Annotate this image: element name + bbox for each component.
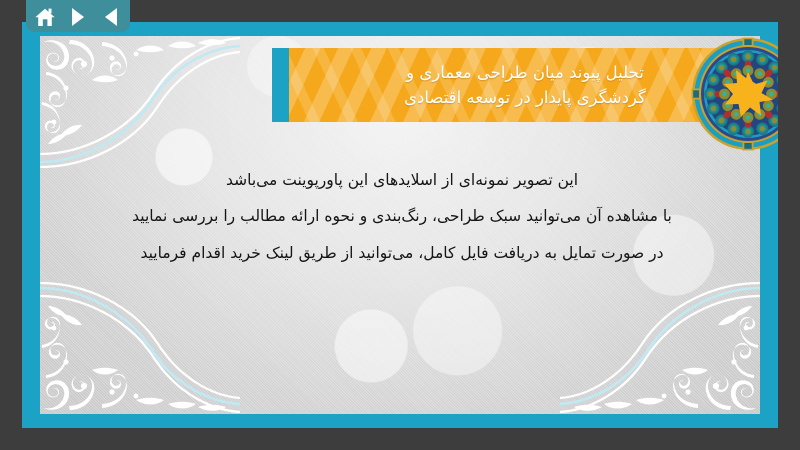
body-line-1: این تصویر نمونه‌ای از اسلایدهای این پاور… (82, 162, 722, 198)
triangle-right-icon (72, 8, 84, 26)
slide-body-text: این تصویر نمونه‌ای از اسلایدهای این پاور… (82, 162, 722, 271)
home-icon (34, 7, 56, 28)
forward-button[interactable] (67, 6, 89, 28)
navigation-panel (26, 0, 130, 32)
body-line-3: در صورت تمایل به دریافت فایل کامل، می‌تو… (82, 235, 722, 271)
persian-medallion-ornament (690, 36, 778, 152)
back-button[interactable] (100, 6, 122, 28)
triangle-left-icon (105, 8, 117, 26)
body-line-2: با مشاهده آن می‌توانید سبک طراحی، رنگ‌بن… (82, 198, 722, 234)
slide-title: تحلیل پیوند میان طراحی معماری و گردشگری … (272, 48, 756, 122)
home-button[interactable] (34, 6, 56, 28)
title-banner: تحلیل پیوند میان طراحی معماری و گردشگری … (272, 48, 756, 122)
slide: تحلیل پیوند میان طراحی معماری و گردشگری … (22, 22, 778, 428)
title-line-1: تحلیل پیوند میان طراحی معماری و (406, 61, 644, 85)
navigation-bar (0, 0, 800, 22)
title-line-2: گردشگری پایدار در توسعه اقتصادی (404, 86, 646, 110)
